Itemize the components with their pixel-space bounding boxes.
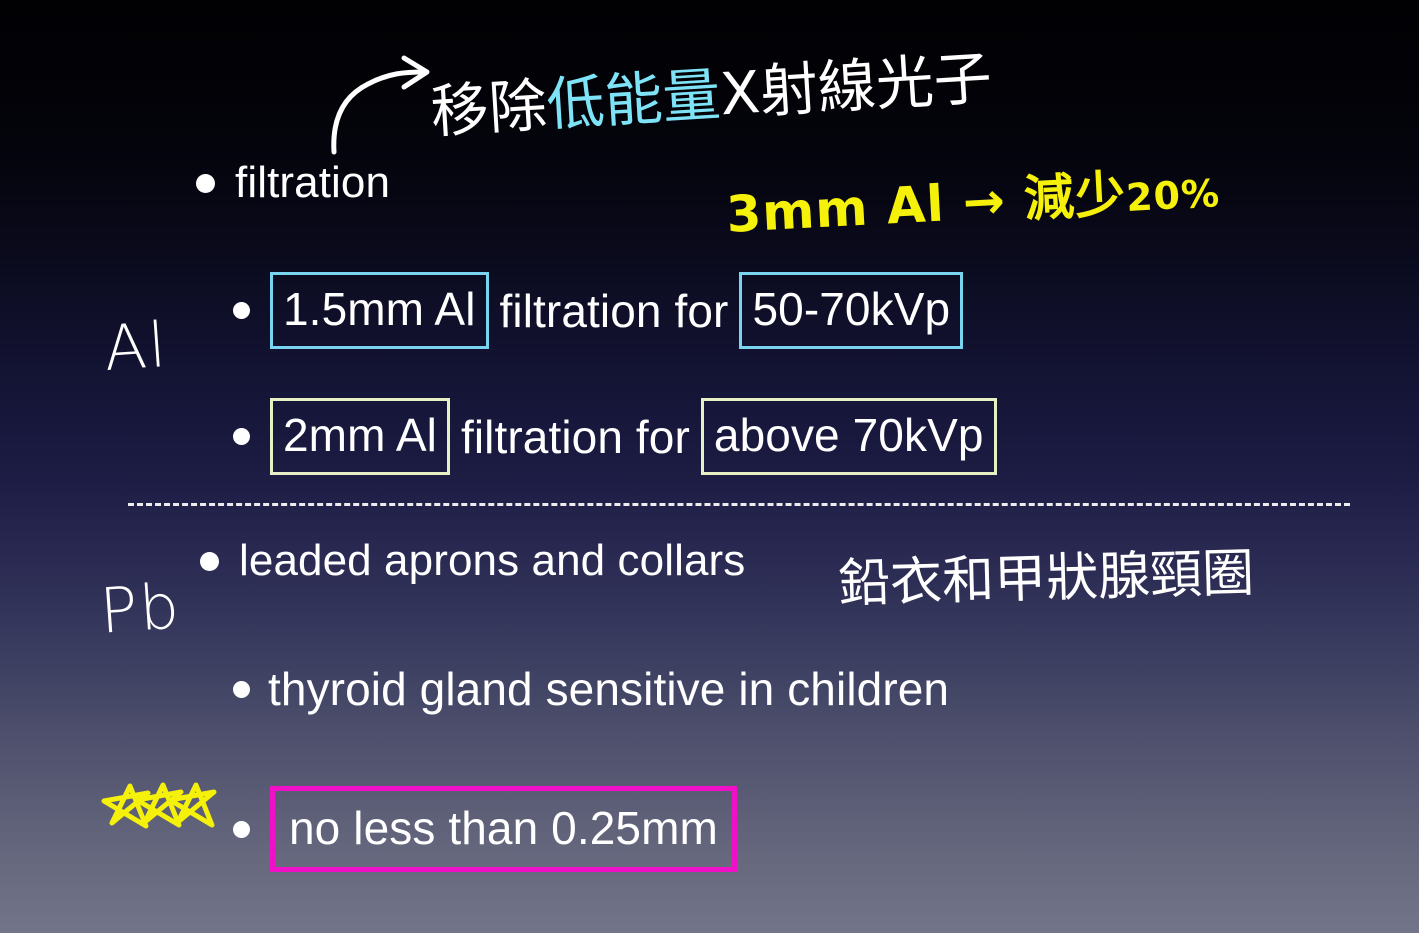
- bullet-dot-icon: [196, 174, 215, 193]
- boxed-value-1p5mm-al: 1.5mm Al: [270, 272, 489, 349]
- boxed-value-minimum-thickness: no less than 0.25mm: [270, 786, 737, 872]
- boxed-value-above-70kvp: above 70kVp: [701, 398, 997, 475]
- bullet-filtration: filtration: [196, 158, 390, 208]
- annotation-yellow-percent: 20%: [1125, 171, 1221, 220]
- bullet-filtration-low-kvp: 1.5mm Al filtration for 50-70kVp: [233, 272, 965, 349]
- bullet-leaded-aprons-label: leaded aprons and collars: [239, 536, 745, 586]
- annotation-apron-chinese: 鉛衣和甲狀腺頸圈: [837, 531, 1255, 617]
- annotation-top-chinese-part3: X射線光子: [718, 44, 993, 128]
- annotation-label-lead: Pb: [98, 569, 184, 647]
- bullet-dot-icon: [200, 552, 219, 571]
- bullet-leaded-aprons: leaded aprons and collars: [200, 536, 745, 586]
- section-divider: [128, 503, 1350, 506]
- curved-arrow-icon: [334, 58, 427, 152]
- bullet-filtration-label: filtration: [235, 158, 390, 208]
- annotation-top-chinese-part2: 低能量: [545, 60, 723, 138]
- text-filtration-for-1: filtration for: [491, 284, 738, 338]
- slide-canvas: 移除低能量X射線光子 3mm Al → 減少20% Al Pb filtrati…: [0, 0, 1419, 933]
- bullet-dot-icon: [233, 821, 250, 838]
- bullet-dot-icon: [233, 302, 250, 319]
- annotation-yellow-main: 3mm Al → 減少: [725, 165, 1127, 244]
- text-filtration-for-2: filtration for: [452, 410, 699, 464]
- bullet-filtration-high-kvp: 2mm Al filtration for above 70kVp: [233, 398, 999, 475]
- bullet-dot-icon: [233, 681, 250, 698]
- bullet-dot-icon: [233, 428, 250, 445]
- annotation-yellow-note: 3mm Al → 減少20%: [724, 149, 1221, 247]
- boxed-value-50-70kvp: 50-70kVp: [739, 272, 963, 349]
- boxed-value-2mm-al: 2mm Al: [270, 398, 450, 475]
- bullet-minimum-thickness: no less than 0.25mm: [233, 786, 739, 872]
- annotation-top-chinese: 移除低能量X射線光子: [428, 31, 994, 149]
- bullet-thyroid-gland-label: thyroid gland sensitive in children: [268, 662, 949, 716]
- three-stars-icon: [104, 785, 214, 826]
- bullet-thyroid-gland: thyroid gland sensitive in children: [233, 662, 949, 716]
- annotation-label-aluminium: Al: [102, 308, 171, 385]
- annotation-top-chinese-part1: 移除: [429, 71, 549, 146]
